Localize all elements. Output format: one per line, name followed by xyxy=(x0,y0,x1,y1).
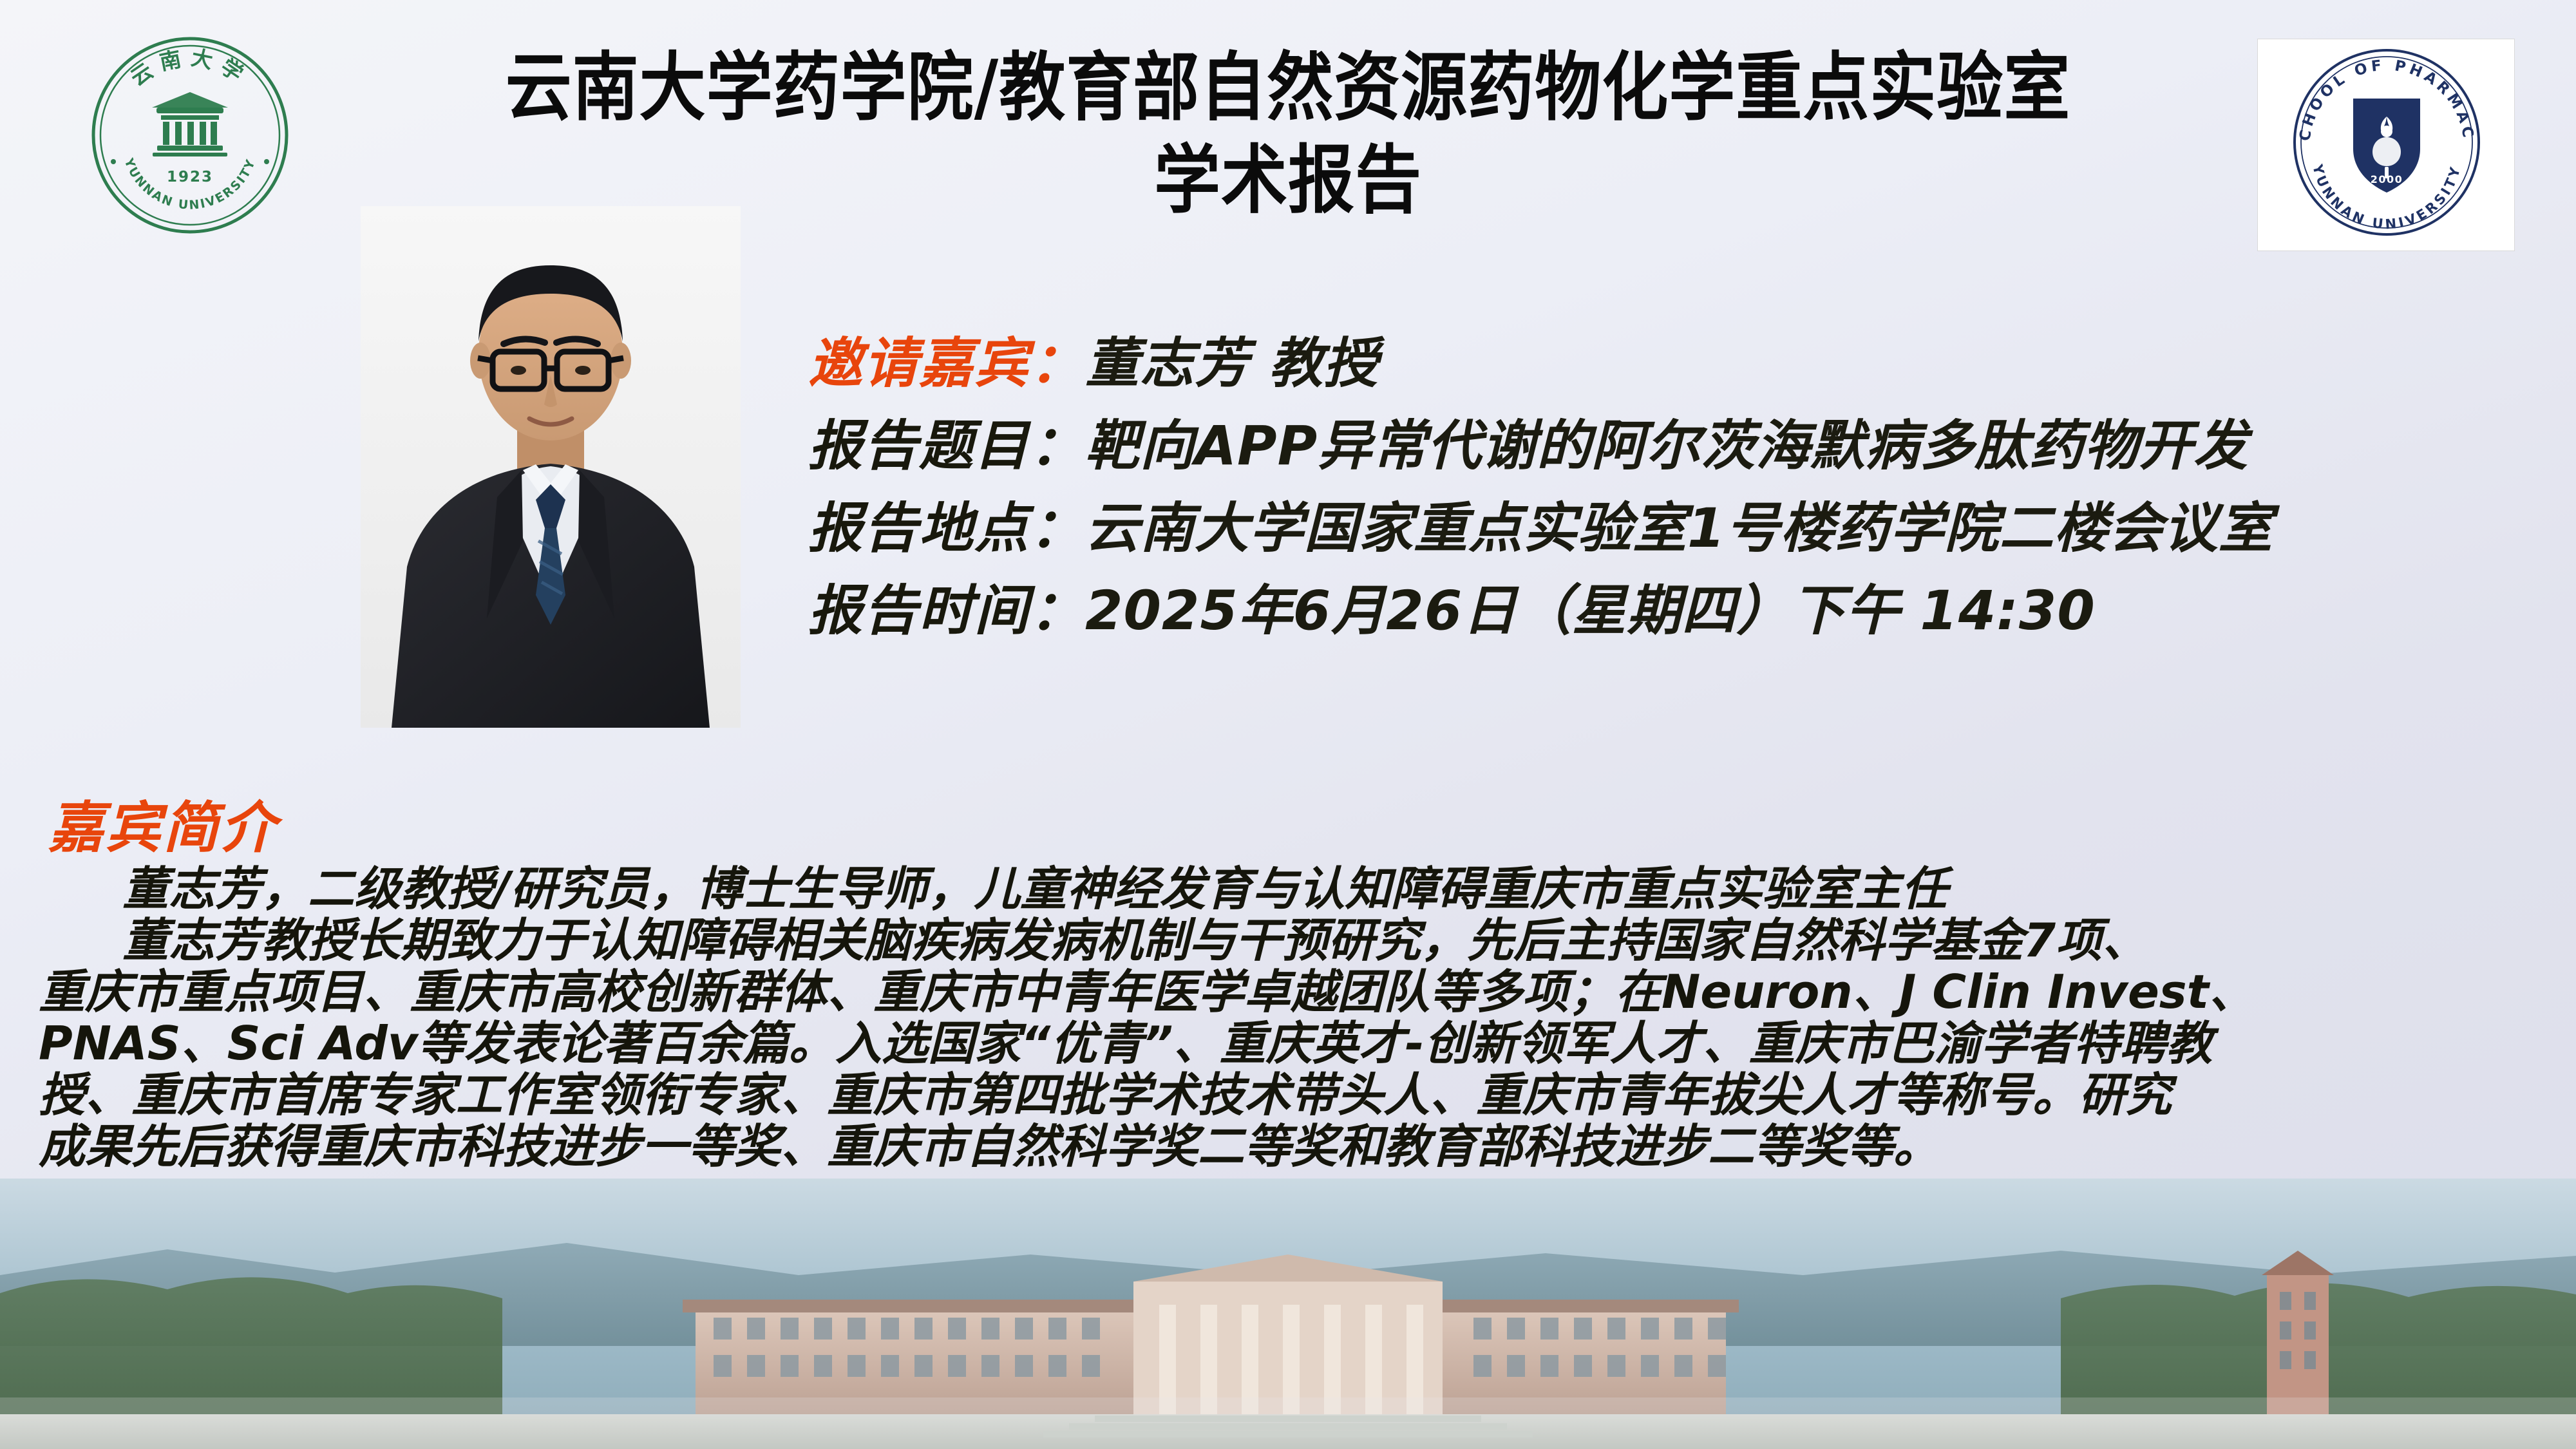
yunnan-university-logo: 云南大学 YUNNAN UNIVERSITY 1923 xyxy=(90,35,290,235)
svg-text:云南大学: 云南大学 xyxy=(126,44,254,90)
info-label-topic: 报告题目： xyxy=(808,414,1085,477)
speaker-portrait xyxy=(361,206,741,728)
info-value-time: 2025年6月26日（星期四）下午 14:30 xyxy=(1085,579,2096,642)
title-line-primary: 云南大学药学院/教育部自然资源药物化学重点实验室 xyxy=(386,45,2190,130)
bio-body: 董志芳，二级教授/研究员，博士生导师，儿童神经发育与认知障碍重庆市重点实验室主任… xyxy=(39,863,2550,1172)
portrait-image xyxy=(361,206,741,728)
info-value-location: 云南大学国家重点实验室1号楼药学院二楼会议室 xyxy=(1085,497,2273,560)
info-label-location: 报告地点： xyxy=(808,497,1085,560)
seal-year: 1923 xyxy=(167,169,213,185)
info-label-time: 报告时间： xyxy=(808,579,1085,642)
campus-panorama-image xyxy=(0,1179,2576,1449)
bio-line: 重庆市重点项目、重庆市高校创新群体、重庆市中青年医学卓越团队等多项；在Neuro… xyxy=(39,966,2550,1018)
bio-line: 成果先后获得重庆市科技进步一等奖、重庆市自然科学奖二等奖和教育部科技进步二等奖等… xyxy=(39,1121,2550,1172)
info-row-time: 报告时间：2025年6月26日（星期四）下午 14:30 xyxy=(808,569,2547,652)
bio-line: 董志芳，二级教授/研究员，博士生导师，儿童神经发育与认知障碍重庆市重点实验室主任 xyxy=(39,863,2550,914)
yunnan-university-seal-icon: 云南大学 YUNNAN UNIVERSITY 1923 xyxy=(90,35,290,235)
school-of-pharmacy-shield-icon: SCHOOL OF PHARMACY YUNNAN UNIVERSITY 200… xyxy=(2258,39,2515,252)
bio-heading: 嘉宾简介 xyxy=(48,782,278,863)
event-info-block: 邀请嘉宾：董志芳 教授 报告题目：靶向APP异常代谢的阿尔茨海默病多肽药物开发 … xyxy=(808,322,2547,652)
bio-line: 董志芳教授长期致力于认知障碍相关脑疾病发病机制与干预研究，先后主持国家自然科学基… xyxy=(39,914,2550,966)
info-row-topic: 报告题目：靶向APP异常代谢的阿尔茨海默病多肽药物开发 xyxy=(808,404,2547,487)
info-value-topic: 靶向APP异常代谢的阿尔茨海默病多肽药物开发 xyxy=(1085,414,2248,477)
info-row-location: 报告地点：云南大学国家重点实验室1号楼药学院二楼会议室 xyxy=(808,487,2547,569)
campus-photo xyxy=(0,1179,2576,1449)
bio-line: 授、重庆市首席专家工作室领衔专家、重庆市第四批学术技术带头人、重庆市青年拔尖人才… xyxy=(39,1069,2550,1121)
info-value-guest: 董志芳 教授 xyxy=(1085,332,1378,395)
school-of-pharmacy-logo: SCHOOL OF PHARMACY YUNNAN UNIVERSITY 200… xyxy=(2257,39,2515,251)
info-row-guest: 邀请嘉宾：董志芳 教授 xyxy=(808,322,2547,404)
info-label-guest: 邀请嘉宾： xyxy=(808,332,1085,395)
bio-line: PNAS、Sci Adv等发表论著百余篇。入选国家“优青”、重庆英才-创新领军人… xyxy=(39,1018,2550,1069)
shield-year: 2000 xyxy=(2371,173,2403,185)
page-title: 云南大学药学院/教育部自然资源药物化学重点实验室 学术报告 xyxy=(386,45,2190,214)
